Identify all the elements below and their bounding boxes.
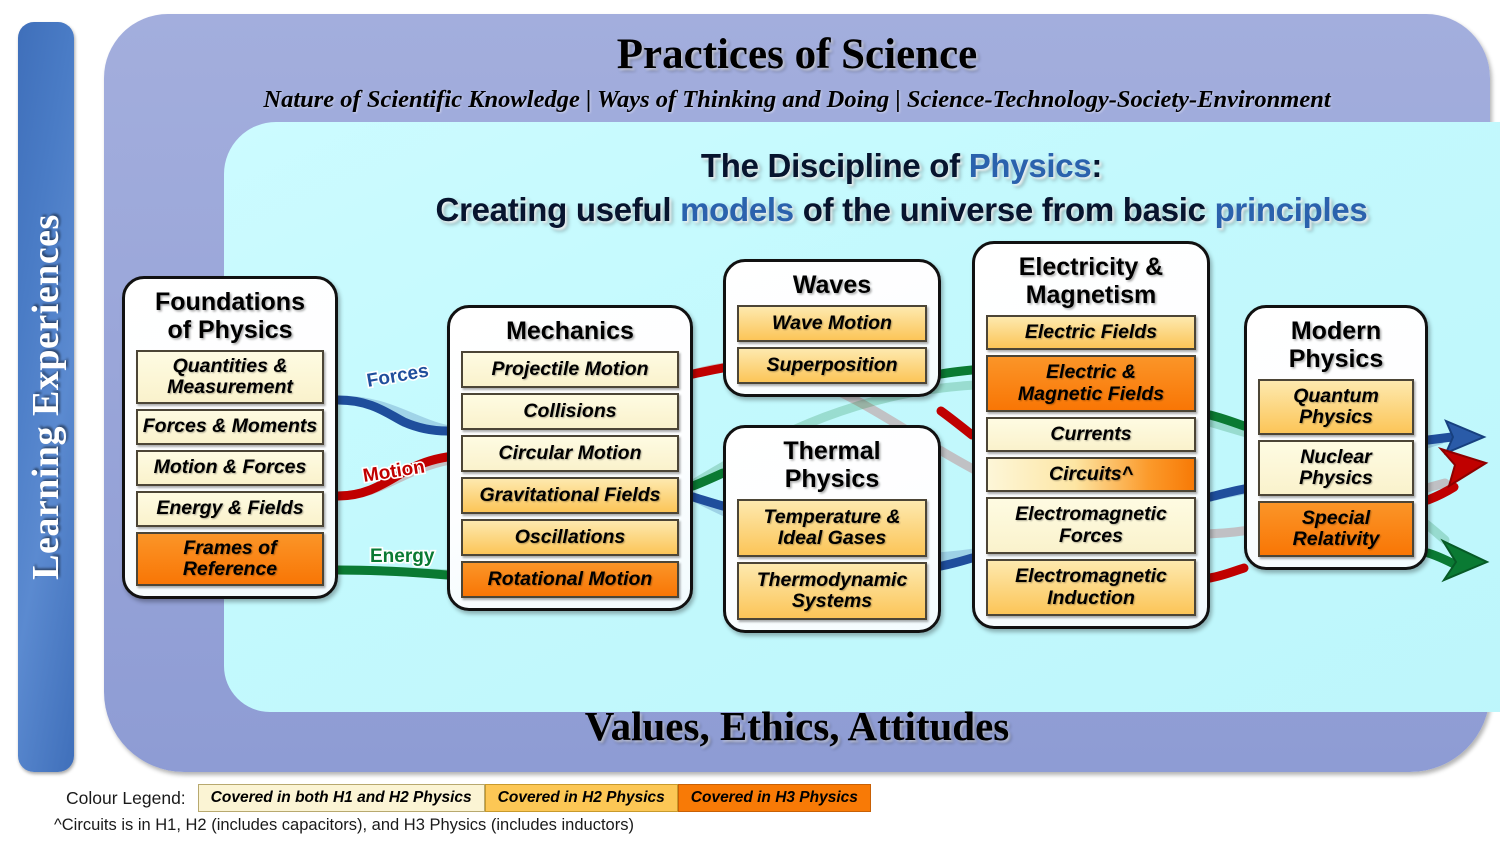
topic-circuits[interactable]: Circuits^ xyxy=(986,457,1196,492)
strand-title-line2: Physics xyxy=(737,465,927,493)
learning-experiences-label: Learning Experiences xyxy=(24,214,68,580)
strand-mechanics[interactable]: Mechanics Projectile Motion Collisions C… xyxy=(447,305,693,611)
colour-legend-label: Colour Legend: xyxy=(66,788,186,809)
topic-rotational-motion[interactable]: Rotational Motion xyxy=(461,561,679,598)
discipline-line1-post: : xyxy=(1091,147,1102,184)
colour-legend: Colour Legend: Covered in both H1 and H2… xyxy=(66,784,871,812)
discipline-line2-highlight-models: models xyxy=(680,191,794,228)
strand-foundations-of-physics[interactable]: Foundations of Physics Quantities &Measu… xyxy=(122,276,338,599)
topic-superposition[interactable]: Superposition xyxy=(737,347,927,384)
strand-title-line2: of Physics xyxy=(136,316,324,344)
topic-special-relativity[interactable]: SpecialRelativity xyxy=(1258,501,1414,557)
topic-electromagnetic-induction[interactable]: ElectromagneticInduction xyxy=(986,559,1196,616)
topic-electric-and-magnetic-fields[interactable]: Electric &Magnetic Fields xyxy=(986,355,1196,412)
topic-thermodynamic-systems[interactable]: ThermodynamicSystems xyxy=(737,562,927,620)
page-subtitle: Nature of Scientific Knowledge | Ways of… xyxy=(104,86,1490,114)
circuits-footnote: ^Circuits is in H1, H2 (includes capacit… xyxy=(54,816,634,835)
strand-title: Electricity & Magnetism xyxy=(986,250,1196,315)
strand-title: Waves xyxy=(737,268,927,305)
strand-title-line1: Mechanics xyxy=(461,317,679,345)
discipline-heading-line2: Creating useful models of the universe f… xyxy=(224,188,1500,232)
strand-title: Thermal Physics xyxy=(737,434,927,499)
legend-swatch-h1-h2: Covered in both H1 and H2 Physics xyxy=(198,784,485,812)
strand-title: Modern Physics xyxy=(1258,314,1414,379)
discipline-line2-mid: of the universe from basic xyxy=(794,191,1215,228)
strand-thermal-physics[interactable]: Thermal Physics Temperature &Ideal Gases… xyxy=(723,425,941,633)
discipline-line1-highlight: Physics xyxy=(969,147,1092,184)
topic-forces-moments[interactable]: Forces & Moments xyxy=(136,409,324,445)
discipline-heading: The Discipline of Physics: Creating usef… xyxy=(224,144,1500,231)
strand-title: Foundations of Physics xyxy=(136,285,324,350)
strand-modern-physics[interactable]: Modern Physics QuantumPhysics NuclearPhy… xyxy=(1244,305,1428,570)
strand-title-line2: Physics xyxy=(1258,345,1414,373)
topic-electromagnetic-forces[interactable]: ElectromagneticForces xyxy=(986,497,1196,554)
strand-title-line1: Waves xyxy=(737,271,927,299)
discipline-heading-line1: The Discipline of Physics: xyxy=(224,144,1500,188)
topic-motion-forces[interactable]: Motion & Forces xyxy=(136,450,324,486)
strand-title-line1: Foundations xyxy=(136,288,324,316)
topic-oscillations[interactable]: Oscillations xyxy=(461,519,679,556)
strand-title-line2: Magnetism xyxy=(986,281,1196,309)
page-title: Practices of Science xyxy=(104,30,1490,79)
discipline-line1-pre: The Discipline of xyxy=(701,147,969,184)
topic-gravitational-fields[interactable]: Gravitational Fields xyxy=(461,477,679,514)
topic-electric-fields[interactable]: Electric Fields xyxy=(986,315,1196,350)
topic-frames-of-reference[interactable]: Frames ofReference xyxy=(136,532,324,586)
topic-energy-fields[interactable]: Energy & Fields xyxy=(136,491,324,527)
strand-title-line1: Modern xyxy=(1258,317,1414,345)
discipline-line2-pre: Creating useful xyxy=(436,191,681,228)
topic-circular-motion[interactable]: Circular Motion xyxy=(461,435,679,472)
learning-experiences-bar: Learning Experiences xyxy=(18,22,74,772)
strand-title: Mechanics xyxy=(461,314,679,351)
strand-electricity-and-magnetism[interactable]: Electricity & Magnetism Electric Fields … xyxy=(972,241,1210,629)
topic-temperature-ideal-gases[interactable]: Temperature &Ideal Gases xyxy=(737,499,927,557)
topic-quantum-physics[interactable]: QuantumPhysics xyxy=(1258,379,1414,435)
topic-currents[interactable]: Currents xyxy=(986,417,1196,452)
topic-collisions[interactable]: Collisions xyxy=(461,393,679,430)
discipline-line2-highlight-principles: principles xyxy=(1215,191,1368,228)
strand-title-line1: Electricity & xyxy=(986,253,1196,281)
values-ethics-attitudes-title: Values, Ethics, Attitudes xyxy=(104,702,1490,750)
strand-title-line1: Thermal xyxy=(737,437,927,465)
topic-wave-motion[interactable]: Wave Motion xyxy=(737,305,927,342)
topic-quantities-measurement[interactable]: Quantities &Measurement xyxy=(136,350,324,404)
legend-swatch-h2: Covered in H2 Physics xyxy=(485,784,678,812)
legend-swatch-h3: Covered in H3 Physics xyxy=(678,784,871,812)
topic-projectile-motion[interactable]: Projectile Motion xyxy=(461,351,679,388)
strand-waves[interactable]: Waves Wave Motion Superposition xyxy=(723,259,941,397)
topic-nuclear-physics[interactable]: NuclearPhysics xyxy=(1258,440,1414,496)
